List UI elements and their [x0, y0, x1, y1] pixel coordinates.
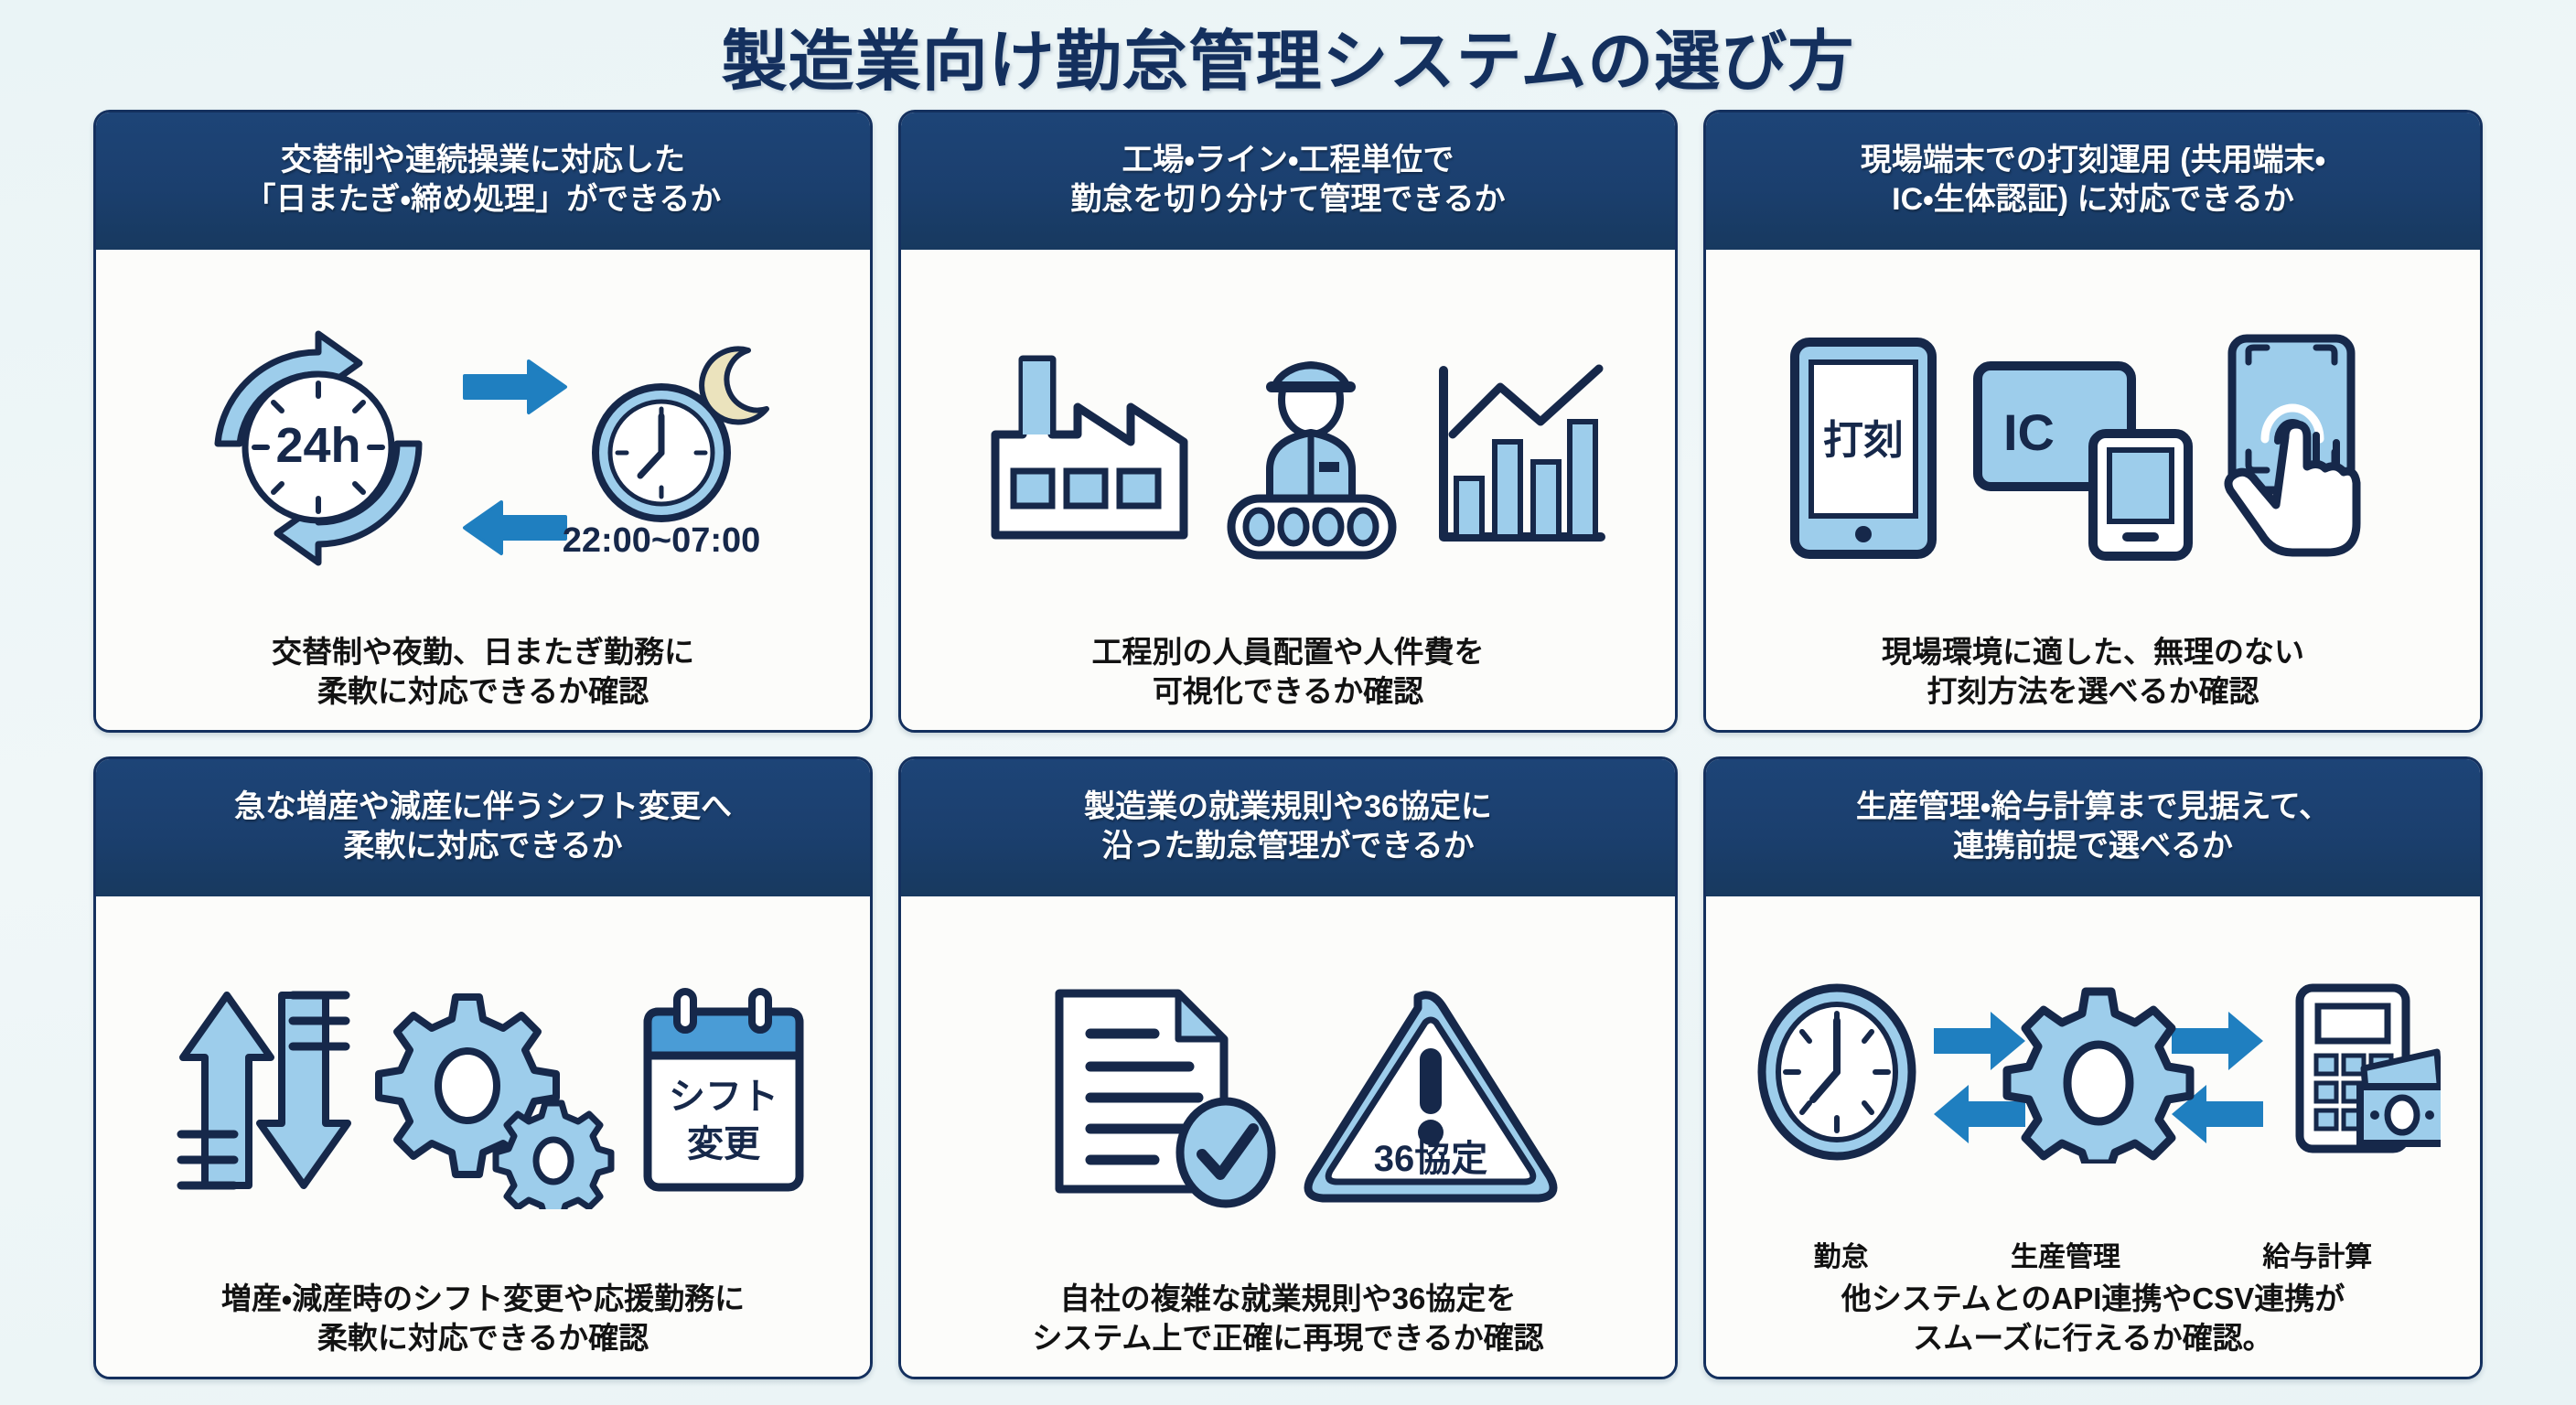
card-caption: 自社の複雑な就業規則や36協定を システム上で正確に再現できるか確認: [1032, 1280, 1543, 1362]
card-illustration: 打刻 IC: [1717, 263, 2469, 633]
mobile-device-icon: [2093, 434, 2188, 556]
caption-line1: 工程別の人員配置や人件費を: [1092, 633, 1485, 672]
caption-line1: 現場環境に適した、無理のない: [1882, 633, 2304, 672]
card-illustration: 36協定: [912, 909, 1664, 1280]
card-body: 打刻 IC: [1706, 250, 2480, 730]
arrow-up-icon: [181, 995, 271, 1185]
card-compliance-rules[interactable]: 製造業の就業規則や36協定に 沿った勤怠管理ができるか: [898, 756, 1678, 1379]
caption-line2: システム上で正確に再現できるか確認: [1032, 1319, 1543, 1358]
arrow-left-icon: [465, 502, 565, 553]
moon-icon: [702, 349, 767, 422]
card-illustration: 24h: [107, 263, 859, 633]
flow-label-production: 生産管理: [2011, 1234, 2120, 1274]
card-illustration: シフト 変更: [107, 909, 859, 1280]
caption-line2: 柔軟に対応できるか確認: [221, 1319, 745, 1358]
card-shift-change[interactable]: 急な増産や減産に伴うシフト変更へ 柔軟に対応できるか: [93, 756, 873, 1379]
card-header-line1: 交替制や連続操業に対応した: [109, 141, 857, 180]
card-body: 工程別の人員配置や人件費を 可視化できるか確認: [901, 250, 1675, 730]
card-header-line2: 「日またぎ・締め処理」ができるか: [109, 180, 857, 220]
card-header-line1: 工場・ライン・工程単位で: [914, 141, 1662, 180]
caption-line2: スムーズに行えるか確認。: [1841, 1319, 2345, 1358]
card-body: 24h: [96, 250, 870, 730]
card-caption: 交替制や夜勤、日またぎ勤務に 柔軟に対応できるか確認: [272, 633, 694, 715]
card-header-line1: 急な増産や減産に伴うシフト変更へ: [109, 788, 857, 827]
arrow-down-icon: [260, 995, 348, 1185]
icon-label-time-range: 22:00~07:00: [563, 521, 761, 560]
caption-line1: 他システムとのAPI連携やCSV連携が: [1841, 1280, 2345, 1319]
card-body: シフト 変更 増産・減産時のシフト変更や応援勤務に 柔軟に対応できるか確認: [96, 896, 870, 1377]
bar-chart-icon: [1444, 369, 1601, 537]
card-illustration: [1717, 909, 2469, 1234]
card-process-management[interactable]: 工場・ライン・工程単位で 勤怠を切り分けて管理できるか: [898, 110, 1678, 733]
card-header: 製造業の就業規則や36協定に 沿った勤怠管理ができるか: [901, 759, 1675, 896]
card-header-line2: 連携前提で選べるか: [1719, 827, 2467, 866]
caption-line1: 増産・減産時のシフト変更や応援勤務に: [221, 1280, 745, 1319]
clock-icon: [1762, 988, 1912, 1156]
money-icon: [2360, 1052, 2441, 1143]
24h-cycle-clock-icon: 24h: [218, 334, 419, 563]
card-body: 勤怠 生産管理 給与計算 他システムとのAPI連携やCSV連携が スムーズに行え…: [1706, 896, 2480, 1377]
calendar-icon: シフト 変更: [648, 992, 800, 1187]
card-caption: 現場環境に適した、無理のない 打刻方法を選べるか確認: [1882, 633, 2304, 715]
icon-label-tablet: 打刻: [1823, 418, 1904, 463]
icon-label-24h: 24h: [275, 418, 360, 473]
gear-icon: [2007, 992, 2190, 1164]
card-header-line2: IC・生体認証) に対応できるか: [1719, 180, 2467, 220]
card-system-integration[interactable]: 生産管理・給与計算まで見据えて、 連携前提で選べるか: [1703, 756, 2483, 1379]
card-header-line1: 生産管理・給与計算まで見据えて、: [1719, 788, 2467, 827]
card-grid: 交替制や連続操業に対応した 「日またぎ・締め処理」ができるか: [0, 110, 2576, 1405]
card-terminal-punching[interactable]: 現場端末での打刻運用 (共用端末・ IC・生体認証) に対応できるか 打刻: [1703, 110, 2483, 733]
card-header: 交替制や連続操業に対応した 「日またぎ・締め処理」ができるか: [96, 113, 870, 250]
card-header-line1: 製造業の就業規則や36協定に: [914, 788, 1662, 827]
icon-label-calendar-line2: 変更: [687, 1124, 761, 1164]
caption-line2: 柔軟に対応できるか確認: [272, 672, 694, 712]
caption-line2: 可視化できるか確認: [1092, 672, 1485, 712]
warning-triangle-icon: 36協定: [1308, 994, 1553, 1197]
icon-label-card: IC: [2003, 403, 2055, 461]
caption-line1: 交替制や夜勤、日またぎ勤務に: [272, 633, 694, 672]
card-illustration: [912, 263, 1664, 633]
card-caption: 増産・減産時のシフト変更や応援勤務に 柔軟に対応できるか確認: [221, 1280, 745, 1362]
factory-icon: [995, 359, 1184, 535]
card-shift-handling[interactable]: 交替制や連続操業に対応した 「日またぎ・締め処理」ができるか: [93, 110, 873, 733]
title-bar: 製造業向け勤怠管理システムの選び方: [0, 0, 2576, 110]
page-title: 製造業向け勤怠管理システムの選び方: [722, 7, 1855, 103]
flow-label-attendance: 勤怠: [1814, 1234, 1869, 1274]
card-header: 現場端末での打刻運用 (共用端末・ IC・生体認証) に対応できるか: [1706, 113, 2480, 250]
card-header: 急な増産や減産に伴うシフト変更へ 柔軟に対応できるか: [96, 759, 870, 896]
worker-conveyor-icon: [1231, 365, 1392, 555]
caption-line2: 打刻方法を選べるか確認: [1882, 672, 2304, 712]
card-header: 生産管理・給与計算まで見据えて、 連携前提で選べるか: [1706, 759, 2480, 896]
check-circle-icon: [1180, 1101, 1272, 1204]
arrow-right-icon: [465, 361, 565, 413]
flow-labels: 勤怠 生産管理 給与計算: [1717, 1234, 2469, 1280]
card-caption: 工程別の人員配置や人件費を 可視化できるか確認: [1092, 633, 1485, 715]
card-body: 36協定 自社の複雑な就業規則や36協定を システム上で正確に再現できるか確認: [901, 896, 1675, 1377]
caption-line1: 自社の複雑な就業規則や36協定を: [1032, 1280, 1543, 1319]
card-header-line1: 現場端末での打刻運用 (共用端末・: [1719, 141, 2467, 180]
infographic-page: 製造業向け勤怠管理システムの選び方 交替制や連続操業に対応した 「日またぎ・締め…: [0, 0, 2576, 1405]
icon-label-warning: 36協定: [1374, 1139, 1488, 1179]
icon-label-calendar-line1: シフト: [669, 1077, 778, 1117]
card-header-line2: 沿った勤怠管理ができるか: [914, 827, 1662, 866]
card-caption: 他システムとのAPI連携やCSV連携が スムーズに行えるか確認。: [1841, 1280, 2345, 1362]
card-header-line2: 柔軟に対応できるか: [109, 827, 857, 866]
card-header: 工場・ライン・工程単位で 勤怠を切り分けて管理できるか: [901, 113, 1675, 250]
flow-label-payroll: 給与計算: [2262, 1234, 2372, 1274]
tablet-punch-icon: 打刻: [1795, 342, 1932, 554]
card-header-line2: 勤怠を切り分けて管理できるか: [914, 180, 1662, 220]
gear-small-icon: [496, 1103, 611, 1209]
